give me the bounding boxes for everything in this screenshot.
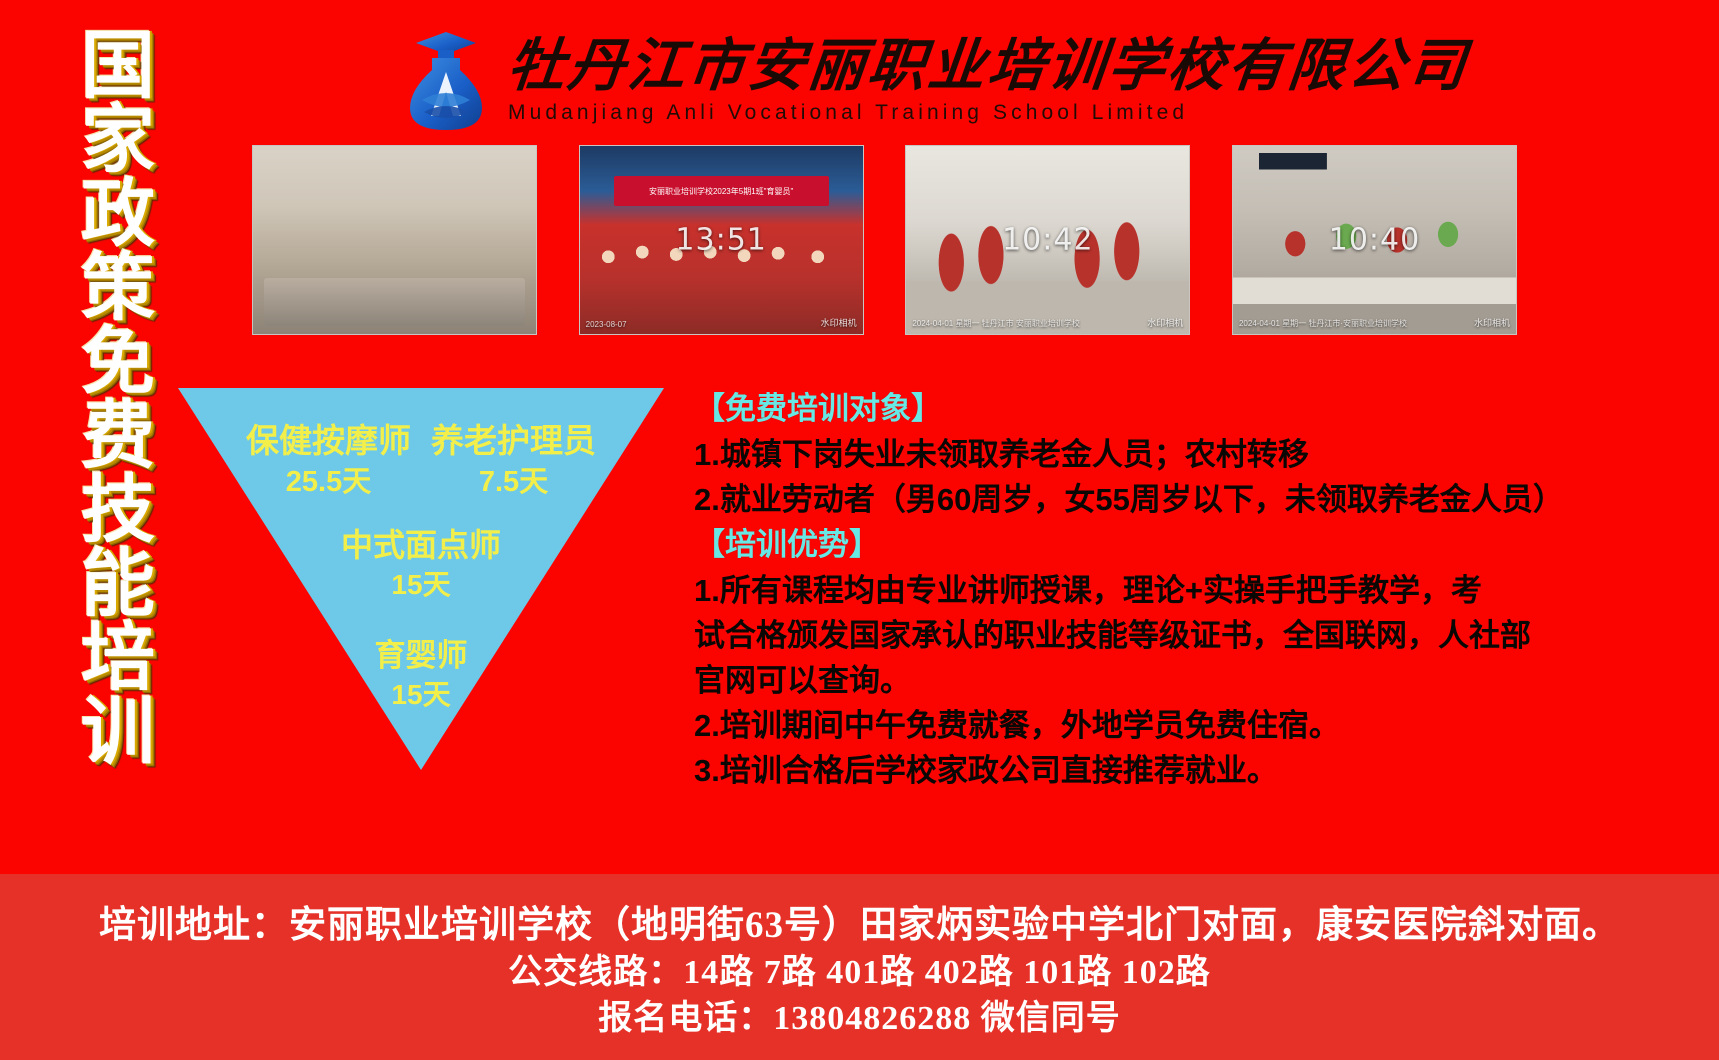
photo-caption-banner: 安丽职业培训学校2023年5期1班"育婴员" [614,176,829,206]
vertical-banner-char: 技 [81,474,155,548]
vertical-banner-char: 政 [81,178,155,252]
photo-timestamp: 13:51 [675,223,766,258]
advantage-line: 1.所有课程均由专业讲师授课，理论+实操手把手教学，考 [694,568,1704,613]
vertical-banner-char: 训 [81,696,155,770]
photo-group-graduation: 安丽职业培训学校2023年5期1班"育婴员" 13:51 水印相机 2023-0… [579,145,864,335]
advantage-line: 试合格颁发国家承认的职业技能等级证书，全国联网，人社部 [694,613,1704,658]
photo-watermark: 水印相机 [1147,316,1183,329]
photo-timestamp: 10:42 [1002,223,1093,258]
photo-strip: 安丽职业培训学校2023年5期1班"育婴员" 13:51 水印相机 2023-0… [252,145,1517,338]
vertical-banner-char: 免 [81,326,155,400]
photo-elderly-care-practice: 10:42 水印相机 2024-04-01 星期一 牡丹江市 安丽职业培训学校 [905,145,1190,335]
vertical-banner-char: 策 [81,252,155,326]
course-duration: 25.5天 [246,462,411,502]
advantage-line: 官网可以查询。 [694,658,1704,703]
training-advantages-heading: 【培训优势】 [694,522,1704,568]
course-name: 中式面点师 [178,524,664,566]
eligibility-line: 1.城镇下岗失业未领取养老金人员；农村转移 [694,432,1704,477]
vertical-banner-char: 能 [81,548,155,622]
course-item-infant-caregiver: 育婴师 15天 [178,636,664,714]
vertical-banner-char: 培 [81,622,155,696]
photo-watermark: 水印相机 [821,316,857,329]
photo-watermark-date: 2024-04-01 星期一 牡丹江市·安丽职业培训学校 [1239,318,1407,329]
photo-timestamp: 10:40 [1329,223,1420,258]
registration-phone: 报名电话：13804826288 微信同号 [598,996,1121,1042]
company-name-en: Mudanjiang Anli Vocational Training Scho… [508,100,1468,126]
course-name: 保健按摩师 [246,420,411,462]
training-address: 培训地址：安丽职业培训学校（地明街63号）田家炳实验中学北门对面，康安医院斜对面… [99,901,1620,950]
course-item-elderly-caregiver: 养老护理员 7.5天 [431,420,596,502]
vertical-banner-char: 家 [81,104,155,178]
vertical-banner-char: 费 [81,400,155,474]
course-item-chinese-pastry-chef: 中式面点师 15天 [178,524,664,604]
photo-watermark: 水印相机 [1474,316,1510,329]
graduation-cap-logo-icon [398,28,494,134]
photo-pastry-kitchen-class [252,145,537,335]
photo-watermark-date: 2024-04-01 星期一 牡丹江市 安丽职业培训学校 [912,318,1080,329]
course-duration: 7.5天 [431,462,596,502]
photo-classroom-lecture: 10:40 水印相机 2024-04-01 星期一 牡丹江市·安丽职业培训学校 [1232,145,1517,335]
vertical-banner: 国 家 政 策 免 费 技 能 培 训 [62,30,174,770]
course-duration: 15天 [178,566,664,604]
info-column: 【免费培训对象】 1.城镇下岗失业未领取养老金人员；农村转移 2.就业劳动者（男… [694,386,1704,793]
bus-routes: 公交线路：14路 7路 401路 402路 101路 102路 [508,950,1211,996]
advantage-line: 2.培训期间中午免费就餐，外地学员免费住宿。 [694,703,1704,748]
photo-watermark-date: 2023-08-07 [586,320,627,329]
free-training-eligibility-heading: 【免费培训对象】 [694,386,1704,432]
course-item-massage-therapist: 保健按摩师 25.5天 [246,420,411,502]
footer-contact: 培训地址：安丽职业培训学校（地明街63号）田家炳实验中学北门对面，康安医院斜对面… [0,874,1719,1060]
course-duration: 15天 [178,676,664,714]
company-name-cn: 牡丹江市安丽职业培训学校有限公司 [505,36,1472,98]
course-row-top: 保健按摩师 25.5天 养老护理员 7.5天 [178,420,664,502]
promotional-poster: 国 家 政 策 免 费 技 能 培 训 [0,0,1719,1060]
course-name: 育婴师 [178,636,664,676]
vertical-banner-char: 国 [81,30,155,104]
poster-header: 牡丹江市安丽职业培训学校有限公司 Mudanjiang Anli Vocatio… [398,22,1298,140]
course-name: 养老护理员 [431,420,596,462]
eligibility-line: 2.就业劳动者（男60周岁，女55周岁以下，未领取养老金人员） [694,477,1704,522]
advantage-line: 3.培训合格后学校家政公司直接推荐就业。 [694,748,1704,793]
course-triangle: 保健按摩师 25.5天 养老护理员 7.5天 中式面点师 15天 育婴师 15天 [178,388,664,770]
